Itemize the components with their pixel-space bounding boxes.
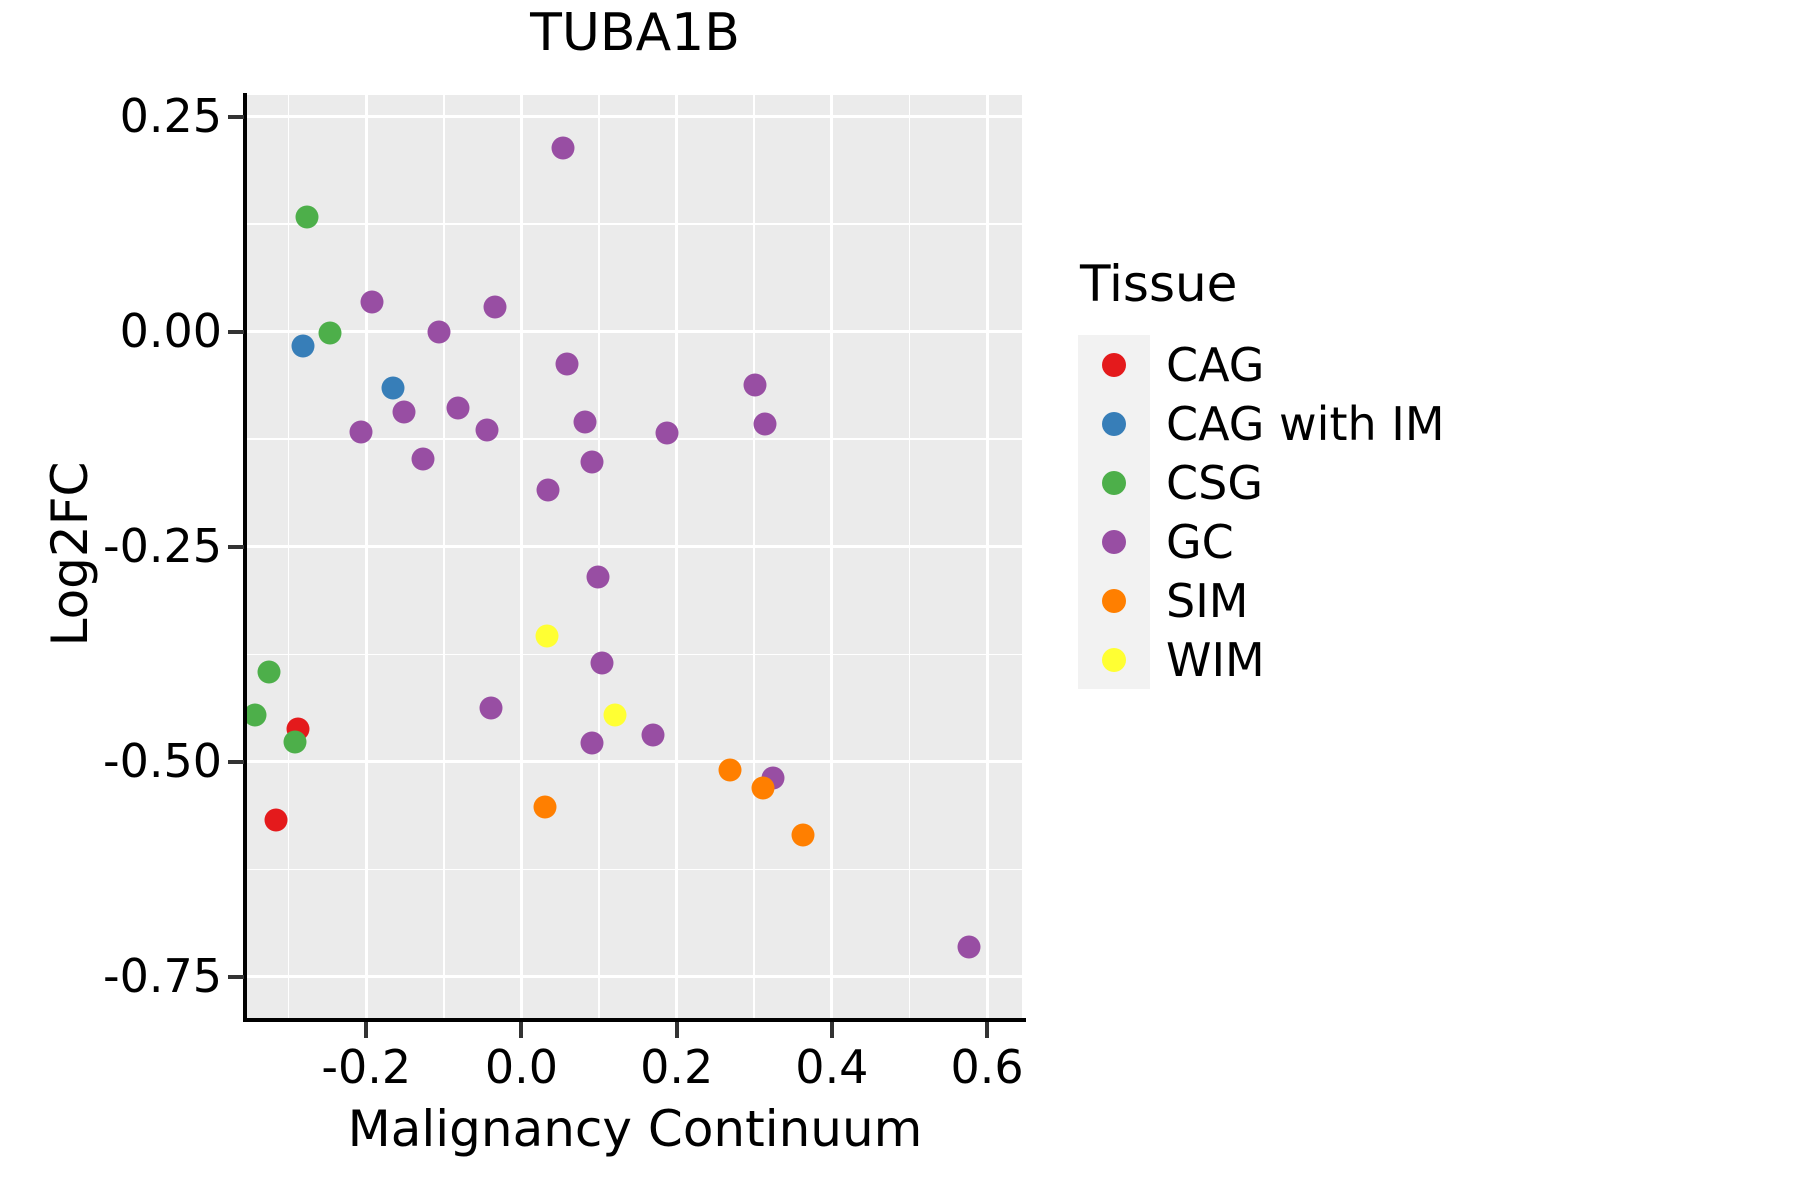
legend-dot-icon bbox=[1102, 412, 1126, 436]
data-point bbox=[603, 704, 626, 727]
grid-line-major-y bbox=[246, 545, 1022, 548]
x-axis-tick bbox=[830, 1022, 834, 1038]
data-point bbox=[246, 704, 266, 727]
legend-key bbox=[1078, 630, 1150, 689]
legend-key bbox=[1078, 335, 1150, 394]
data-point bbox=[744, 373, 767, 396]
x-axis-line bbox=[243, 1018, 1026, 1022]
data-point bbox=[480, 696, 503, 719]
data-point bbox=[751, 776, 774, 799]
data-point bbox=[484, 295, 507, 318]
data-point bbox=[349, 421, 372, 444]
data-point bbox=[574, 410, 597, 433]
legend-dot-icon bbox=[1102, 471, 1126, 495]
data-point bbox=[641, 724, 664, 747]
data-point bbox=[719, 758, 742, 781]
x-axis-tick bbox=[364, 1022, 368, 1038]
y-axis-tick bbox=[228, 760, 244, 764]
data-point bbox=[446, 397, 469, 420]
grid-line-major-x bbox=[365, 95, 368, 1020]
y-axis-tick-label: -0.25 bbox=[103, 519, 222, 573]
grid-line-minor-x bbox=[909, 95, 911, 1020]
data-point bbox=[360, 290, 383, 313]
data-point bbox=[587, 565, 610, 588]
y-axis-tick-label: -0.75 bbox=[103, 949, 222, 1003]
y-axis-label: Log2FC bbox=[41, 294, 99, 814]
legend-item-label: CAG with IM bbox=[1166, 401, 1445, 447]
grid-line-major-x bbox=[830, 95, 833, 1020]
legend-items: CAGCAG with IMCSGGCSIMWIM bbox=[1078, 335, 1778, 689]
data-point bbox=[533, 796, 556, 819]
legend-title: Tissue bbox=[1080, 255, 1778, 313]
legend-item-csg[interactable]: CSG bbox=[1078, 453, 1778, 512]
y-axis-tick bbox=[228, 330, 244, 334]
y-axis-tick-label: 0.25 bbox=[120, 89, 222, 143]
x-axis-tick bbox=[675, 1022, 679, 1038]
data-point bbox=[296, 206, 319, 229]
chart-canvas: TUBA1B 0.250.00-0.25-0.50-0.75 -0.20.00.… bbox=[0, 0, 1800, 1200]
grid-line-major-x bbox=[520, 95, 523, 1020]
data-point bbox=[428, 321, 451, 344]
y-axis-line bbox=[243, 93, 247, 1022]
data-point bbox=[381, 376, 404, 399]
legend-item-label: CSG bbox=[1166, 460, 1263, 506]
page-title: TUBA1B bbox=[245, 6, 1025, 61]
grid-line-minor-y bbox=[246, 654, 1022, 656]
y-axis-tick bbox=[228, 975, 244, 979]
data-point bbox=[258, 660, 281, 683]
x-axis-tick bbox=[985, 1022, 989, 1038]
grid-line-major-y bbox=[246, 330, 1022, 333]
grid-line-minor-x bbox=[598, 95, 600, 1020]
grid-line-minor-x bbox=[753, 95, 755, 1020]
legend-item-label: WIM bbox=[1166, 637, 1265, 683]
legend-item-gc[interactable]: GC bbox=[1078, 512, 1778, 571]
data-point bbox=[551, 137, 574, 160]
data-point bbox=[792, 824, 815, 847]
data-point bbox=[291, 335, 314, 358]
data-point bbox=[476, 418, 499, 441]
grid-line-major-x bbox=[675, 95, 678, 1020]
legend-item-label: CAG bbox=[1166, 342, 1264, 388]
grid-line-minor-y bbox=[246, 869, 1022, 871]
legend-item-cag-with-im[interactable]: CAG with IM bbox=[1078, 394, 1778, 453]
legend-dot-icon bbox=[1102, 530, 1126, 554]
legend-item-sim[interactable]: SIM bbox=[1078, 571, 1778, 630]
legend-dot-icon bbox=[1102, 353, 1126, 377]
x-axis-label: Malignancy Continuum bbox=[245, 1100, 1025, 1158]
grid-line-minor-x bbox=[288, 95, 290, 1020]
data-point bbox=[556, 353, 579, 376]
grid-line-major-y bbox=[246, 760, 1022, 763]
y-axis-tick bbox=[228, 545, 244, 549]
legend-item-label: SIM bbox=[1166, 578, 1248, 624]
y-axis-tick bbox=[228, 115, 244, 119]
legend-dot-icon bbox=[1102, 589, 1126, 613]
data-point bbox=[581, 451, 604, 474]
grid-line-major-y bbox=[246, 975, 1022, 978]
y-axis-tick-label: -0.50 bbox=[103, 734, 222, 788]
legend-key bbox=[1078, 453, 1150, 512]
data-point bbox=[283, 731, 306, 754]
data-point bbox=[536, 478, 559, 501]
grid-line-minor-x bbox=[443, 95, 445, 1020]
data-point bbox=[958, 935, 981, 958]
legend: Tissue CAGCAG with IMCSGGCSIMWIM bbox=[1078, 255, 1778, 689]
x-axis-tick-label: 0.6 bbox=[887, 1040, 1087, 1094]
data-point bbox=[265, 809, 288, 832]
grid-line-major-x bbox=[986, 95, 989, 1020]
data-point bbox=[392, 400, 415, 423]
legend-key bbox=[1078, 571, 1150, 630]
data-point bbox=[754, 412, 777, 435]
grid-line-major-y bbox=[246, 115, 1022, 118]
legend-key bbox=[1078, 512, 1150, 571]
legend-key bbox=[1078, 394, 1150, 453]
legend-dot-icon bbox=[1102, 648, 1126, 672]
legend-item-cag[interactable]: CAG bbox=[1078, 335, 1778, 394]
legend-item-wim[interactable]: WIM bbox=[1078, 630, 1778, 689]
data-point bbox=[591, 651, 614, 674]
plot-panel bbox=[246, 95, 1022, 1020]
data-point bbox=[318, 322, 341, 345]
data-point bbox=[536, 625, 559, 648]
data-point bbox=[656, 422, 679, 445]
legend-item-label: GC bbox=[1166, 519, 1234, 565]
data-point bbox=[581, 731, 604, 754]
y-axis-tick-label: 0.00 bbox=[120, 304, 222, 358]
x-axis-tick bbox=[519, 1022, 523, 1038]
grid-line-minor-y bbox=[246, 223, 1022, 225]
data-point bbox=[411, 447, 434, 470]
